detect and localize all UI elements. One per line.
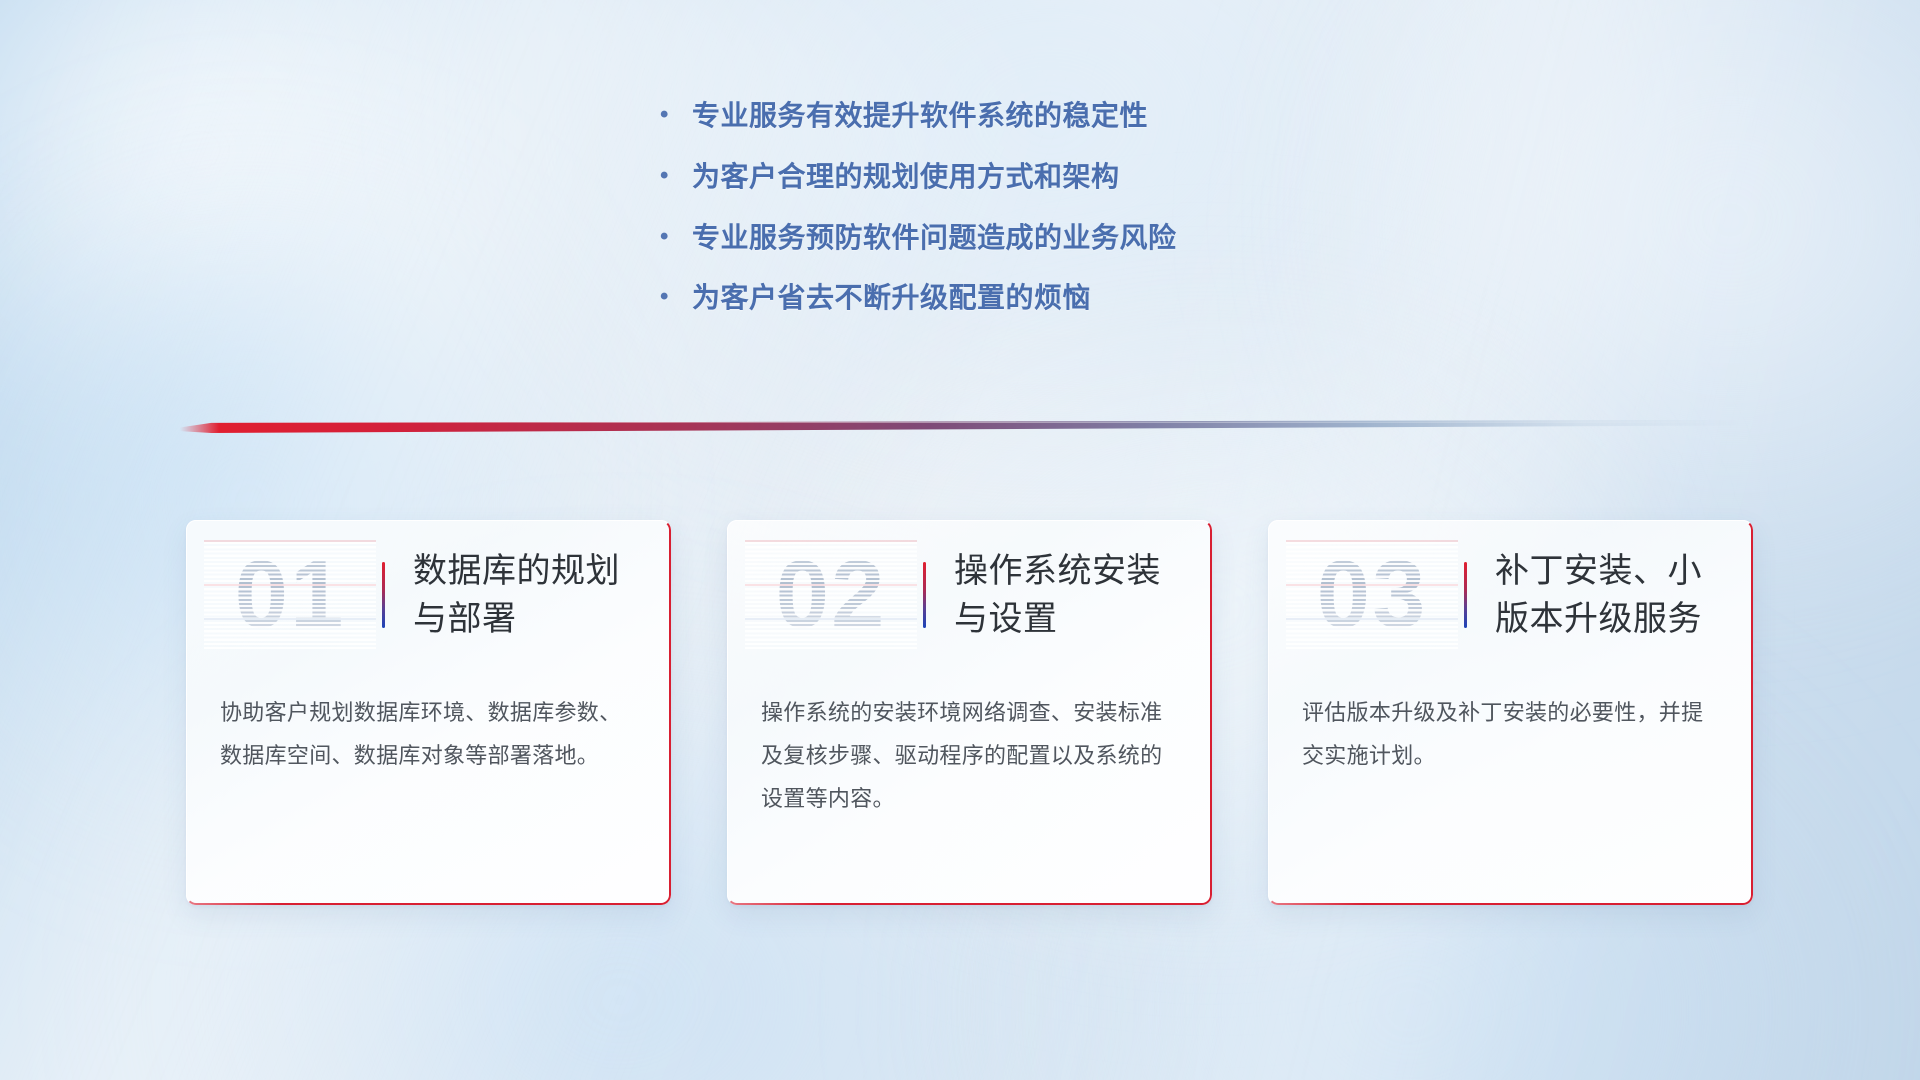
card-title: 补丁安装、小 版本升级服务 — [1495, 547, 1753, 644]
bullet-dot-icon: • — [660, 159, 692, 194]
card-body-text: 协助客户规划数据库环境、数据库参数、数据库空间、数据库对象等部署落地。 — [186, 670, 671, 778]
service-card-list: 01 数据库的规划 与部署 协助客户规划数据库环境、数据库参数、数据库空间、数据… — [186, 520, 1753, 905]
bullet-dot-icon: • — [660, 98, 692, 133]
card-title-divider — [382, 562, 385, 628]
card-number-text: 01 — [204, 540, 376, 650]
list-item: • 专业服务预防软件问题造成的业务风险 — [660, 220, 1177, 256]
card-title-divider — [923, 562, 926, 628]
card-number-text: 02 — [745, 540, 917, 650]
card-header: 03 补丁安装、小 版本升级服务 — [1268, 520, 1753, 670]
card-number-03: 03 — [1286, 540, 1458, 650]
card-number-01: 01 — [204, 540, 376, 650]
list-item: • 专业服务有效提升软件系统的稳定性 — [660, 98, 1177, 134]
bullet-text: 专业服务预防软件问题造成的业务风险 — [692, 220, 1177, 256]
service-card-01[interactable]: 01 数据库的规划 与部署 协助客户规划数据库环境、数据库参数、数据库空间、数据… — [186, 520, 671, 905]
card-title: 数据库的规划 与部署 — [413, 547, 671, 644]
card-number-text: 03 — [1286, 540, 1458, 650]
card-title: 操作系统安装 与设置 — [954, 547, 1212, 644]
list-item: • 为客户合理的规划使用方式和架构 — [660, 159, 1177, 195]
benefits-bullet-list: • 专业服务有效提升软件系统的稳定性 • 为客户合理的规划使用方式和架构 • 专… — [660, 98, 1177, 341]
card-header: 02 操作系统安装 与设置 — [727, 520, 1212, 670]
service-card-02[interactable]: 02 操作系统安装 与设置 操作系统的安装环境网络调查、安装标准及复核步骤、驱动… — [727, 520, 1212, 905]
card-number-02: 02 — [745, 540, 917, 650]
card-body-text: 操作系统的安装环境网络调查、安装标准及复核步骤、驱动程序的配置以及系统的设置等内… — [727, 670, 1212, 821]
card-header: 01 数据库的规划 与部署 — [186, 520, 671, 670]
card-body-text: 评估版本升级及补丁安装的必要性，并提交实施计划。 — [1268, 670, 1753, 778]
bullet-dot-icon: • — [660, 280, 692, 315]
card-title-divider — [1464, 562, 1467, 628]
list-item: • 为客户省去不断升级配置的烦恼 — [660, 280, 1177, 316]
bullet-text: 专业服务有效提升软件系统的稳定性 — [692, 98, 1148, 134]
bullet-dot-icon: • — [660, 220, 692, 255]
bullet-text: 为客户合理的规划使用方式和架构 — [692, 159, 1120, 195]
bullet-text: 为客户省去不断升级配置的烦恼 — [692, 280, 1091, 316]
service-card-03[interactable]: 03 补丁安装、小 版本升级服务 评估版本升级及补丁安装的必要性，并提交实施计划… — [1268, 520, 1753, 905]
